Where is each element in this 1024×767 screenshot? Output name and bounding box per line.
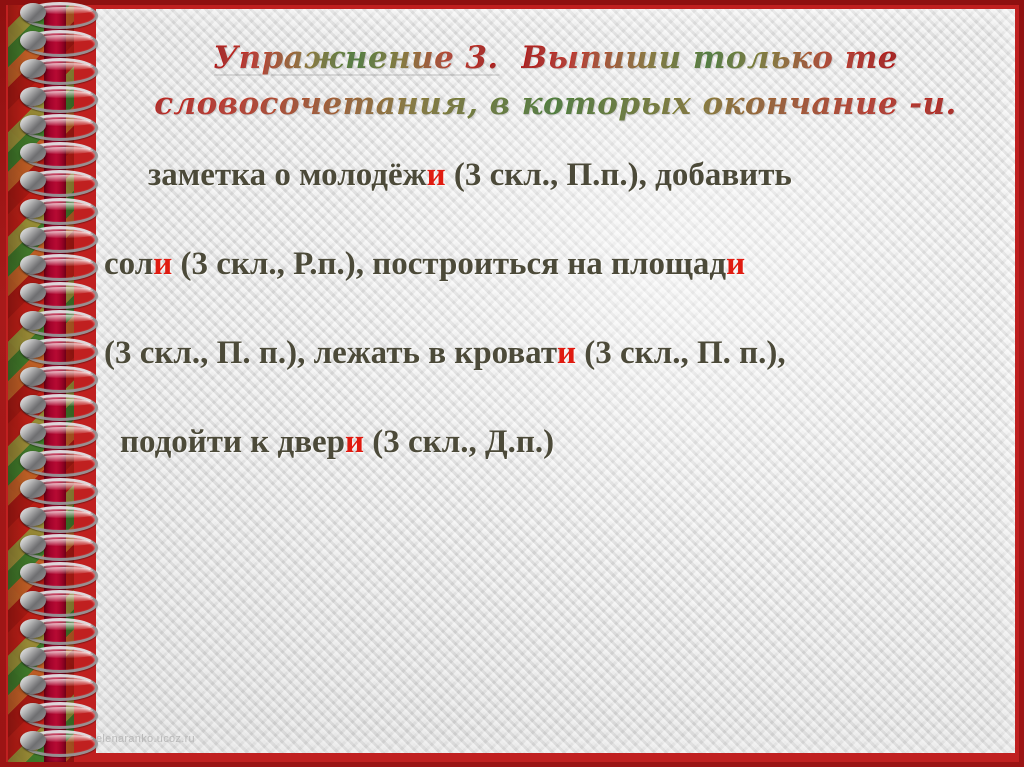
presentation-slide: Упражнение 3. Выпиши только те словосоче…: [0, 0, 1024, 767]
highlighted-ending: и: [153, 246, 172, 282]
title-instruction-part2: словосочетания, в которых окончание -и.: [96, 81, 1015, 127]
notebook-spine-band: [44, 5, 66, 762]
title-instruction-part1: Выпиши только те: [521, 40, 898, 76]
site-watermark: elenaranko.ucoz.ru: [96, 733, 195, 745]
highlighted-ending: и: [345, 424, 364, 460]
exercise-phrase-line: заметка о молодёжи (3 скл., П.п.), добав…: [148, 159, 1015, 192]
title-exercise-label: Упражнение 3.: [213, 40, 498, 76]
phrase-text: (3 скл., П. п.),: [576, 335, 786, 371]
phrase-text: сол: [104, 246, 153, 282]
exercise-phrase-list: заметка о молодёжи (3 скл., П.п.), добав…: [96, 159, 1015, 459]
highlighted-ending: и: [726, 246, 745, 282]
phrase-text: (3 скл., Д.п.): [364, 424, 554, 460]
exercise-phrase-line: (3 скл., П. п.), лежать в кровати (3 скл…: [104, 337, 1015, 370]
title-spacer: [499, 40, 521, 76]
phrase-text: (3 скл., П.п.), добавить: [446, 157, 792, 193]
highlighted-ending: и: [427, 157, 446, 193]
exercise-phrase-line: соли (3 скл., Р.п.), построиться на площ…: [104, 248, 1015, 281]
phrase-text: (3 скл., П. п.), лежать в кроват: [104, 335, 557, 371]
exercise-phrase-line: подойти к двери (3 скл., Д.п.): [120, 426, 1015, 459]
phrase-text: подойти к двер: [120, 424, 345, 460]
slide-title: Упражнение 3. Выпиши только те словосоче…: [96, 35, 1015, 127]
phrase-text: заметка о молодёж: [148, 157, 427, 193]
highlighted-ending: и: [557, 335, 576, 371]
slide-content-area: Упражнение 3. Выпиши только те словосоче…: [96, 9, 1015, 753]
phrase-text: (3 скл., Р.п.), построиться на площад: [172, 246, 726, 282]
